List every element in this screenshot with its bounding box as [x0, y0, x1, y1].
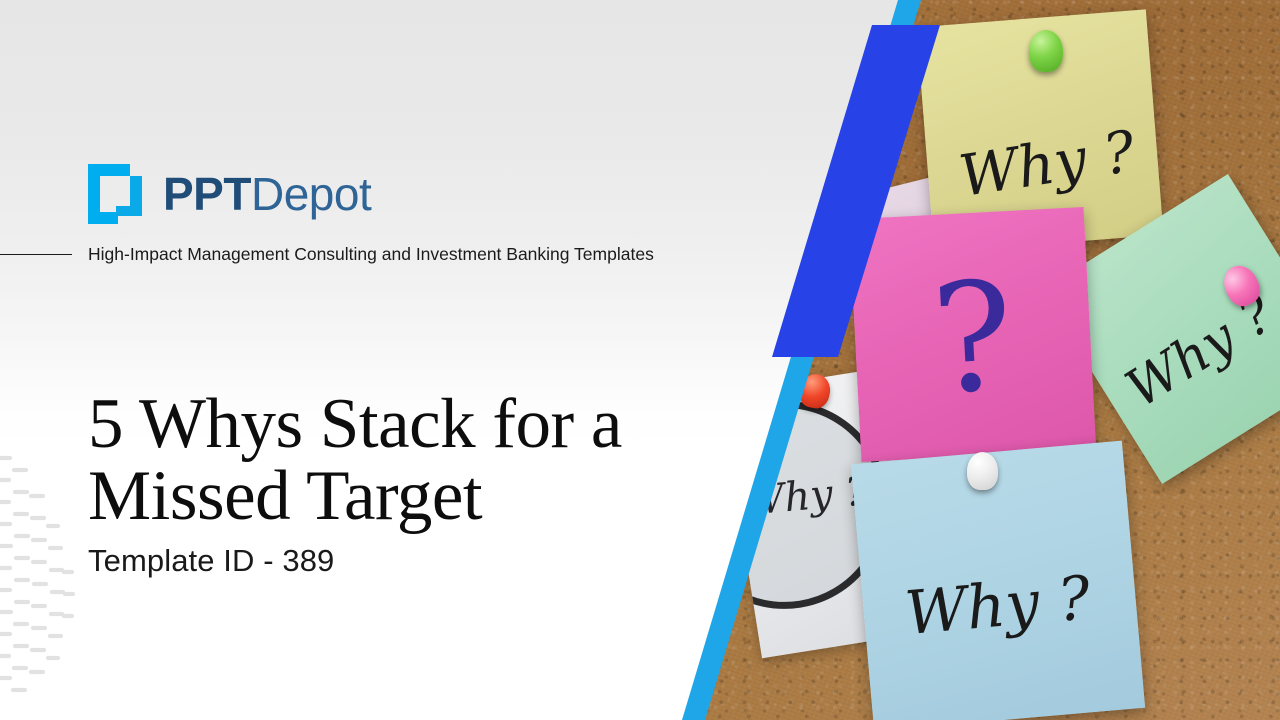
wordmark-light: Depot	[251, 168, 371, 220]
sticky-note-pink: ?	[849, 207, 1096, 462]
question-mark-glyph: ?	[929, 261, 1017, 415]
brand-lockup: PPTDepot	[88, 162, 371, 226]
note-text-yellow: Why ?	[955, 119, 1139, 210]
page-title: 5 Whys Stack for a Missed Target	[88, 388, 688, 533]
sticky-note-blue: Why ?	[851, 441, 1145, 720]
note-text-blue: Why ?	[902, 563, 1093, 649]
tagline-text: High-Impact Management Consulting and In…	[88, 244, 654, 265]
green-pushpin-icon	[1029, 30, 1063, 72]
tagline-row: High-Impact Management Consulting and In…	[0, 244, 760, 265]
tagline-rule	[0, 254, 72, 255]
wordmark: PPTDepot	[163, 171, 371, 217]
template-id-label: Template ID - 389	[88, 543, 334, 579]
wordmark-bold: PPT	[163, 168, 251, 220]
note-text-green: Why ?	[1116, 284, 1280, 420]
slide-canvas: Why ? Why ? Why ? ? Why ? PPTD	[0, 0, 1280, 720]
overlapping-squares-logo-icon	[88, 162, 146, 226]
white-pushpin-icon	[967, 452, 998, 490]
